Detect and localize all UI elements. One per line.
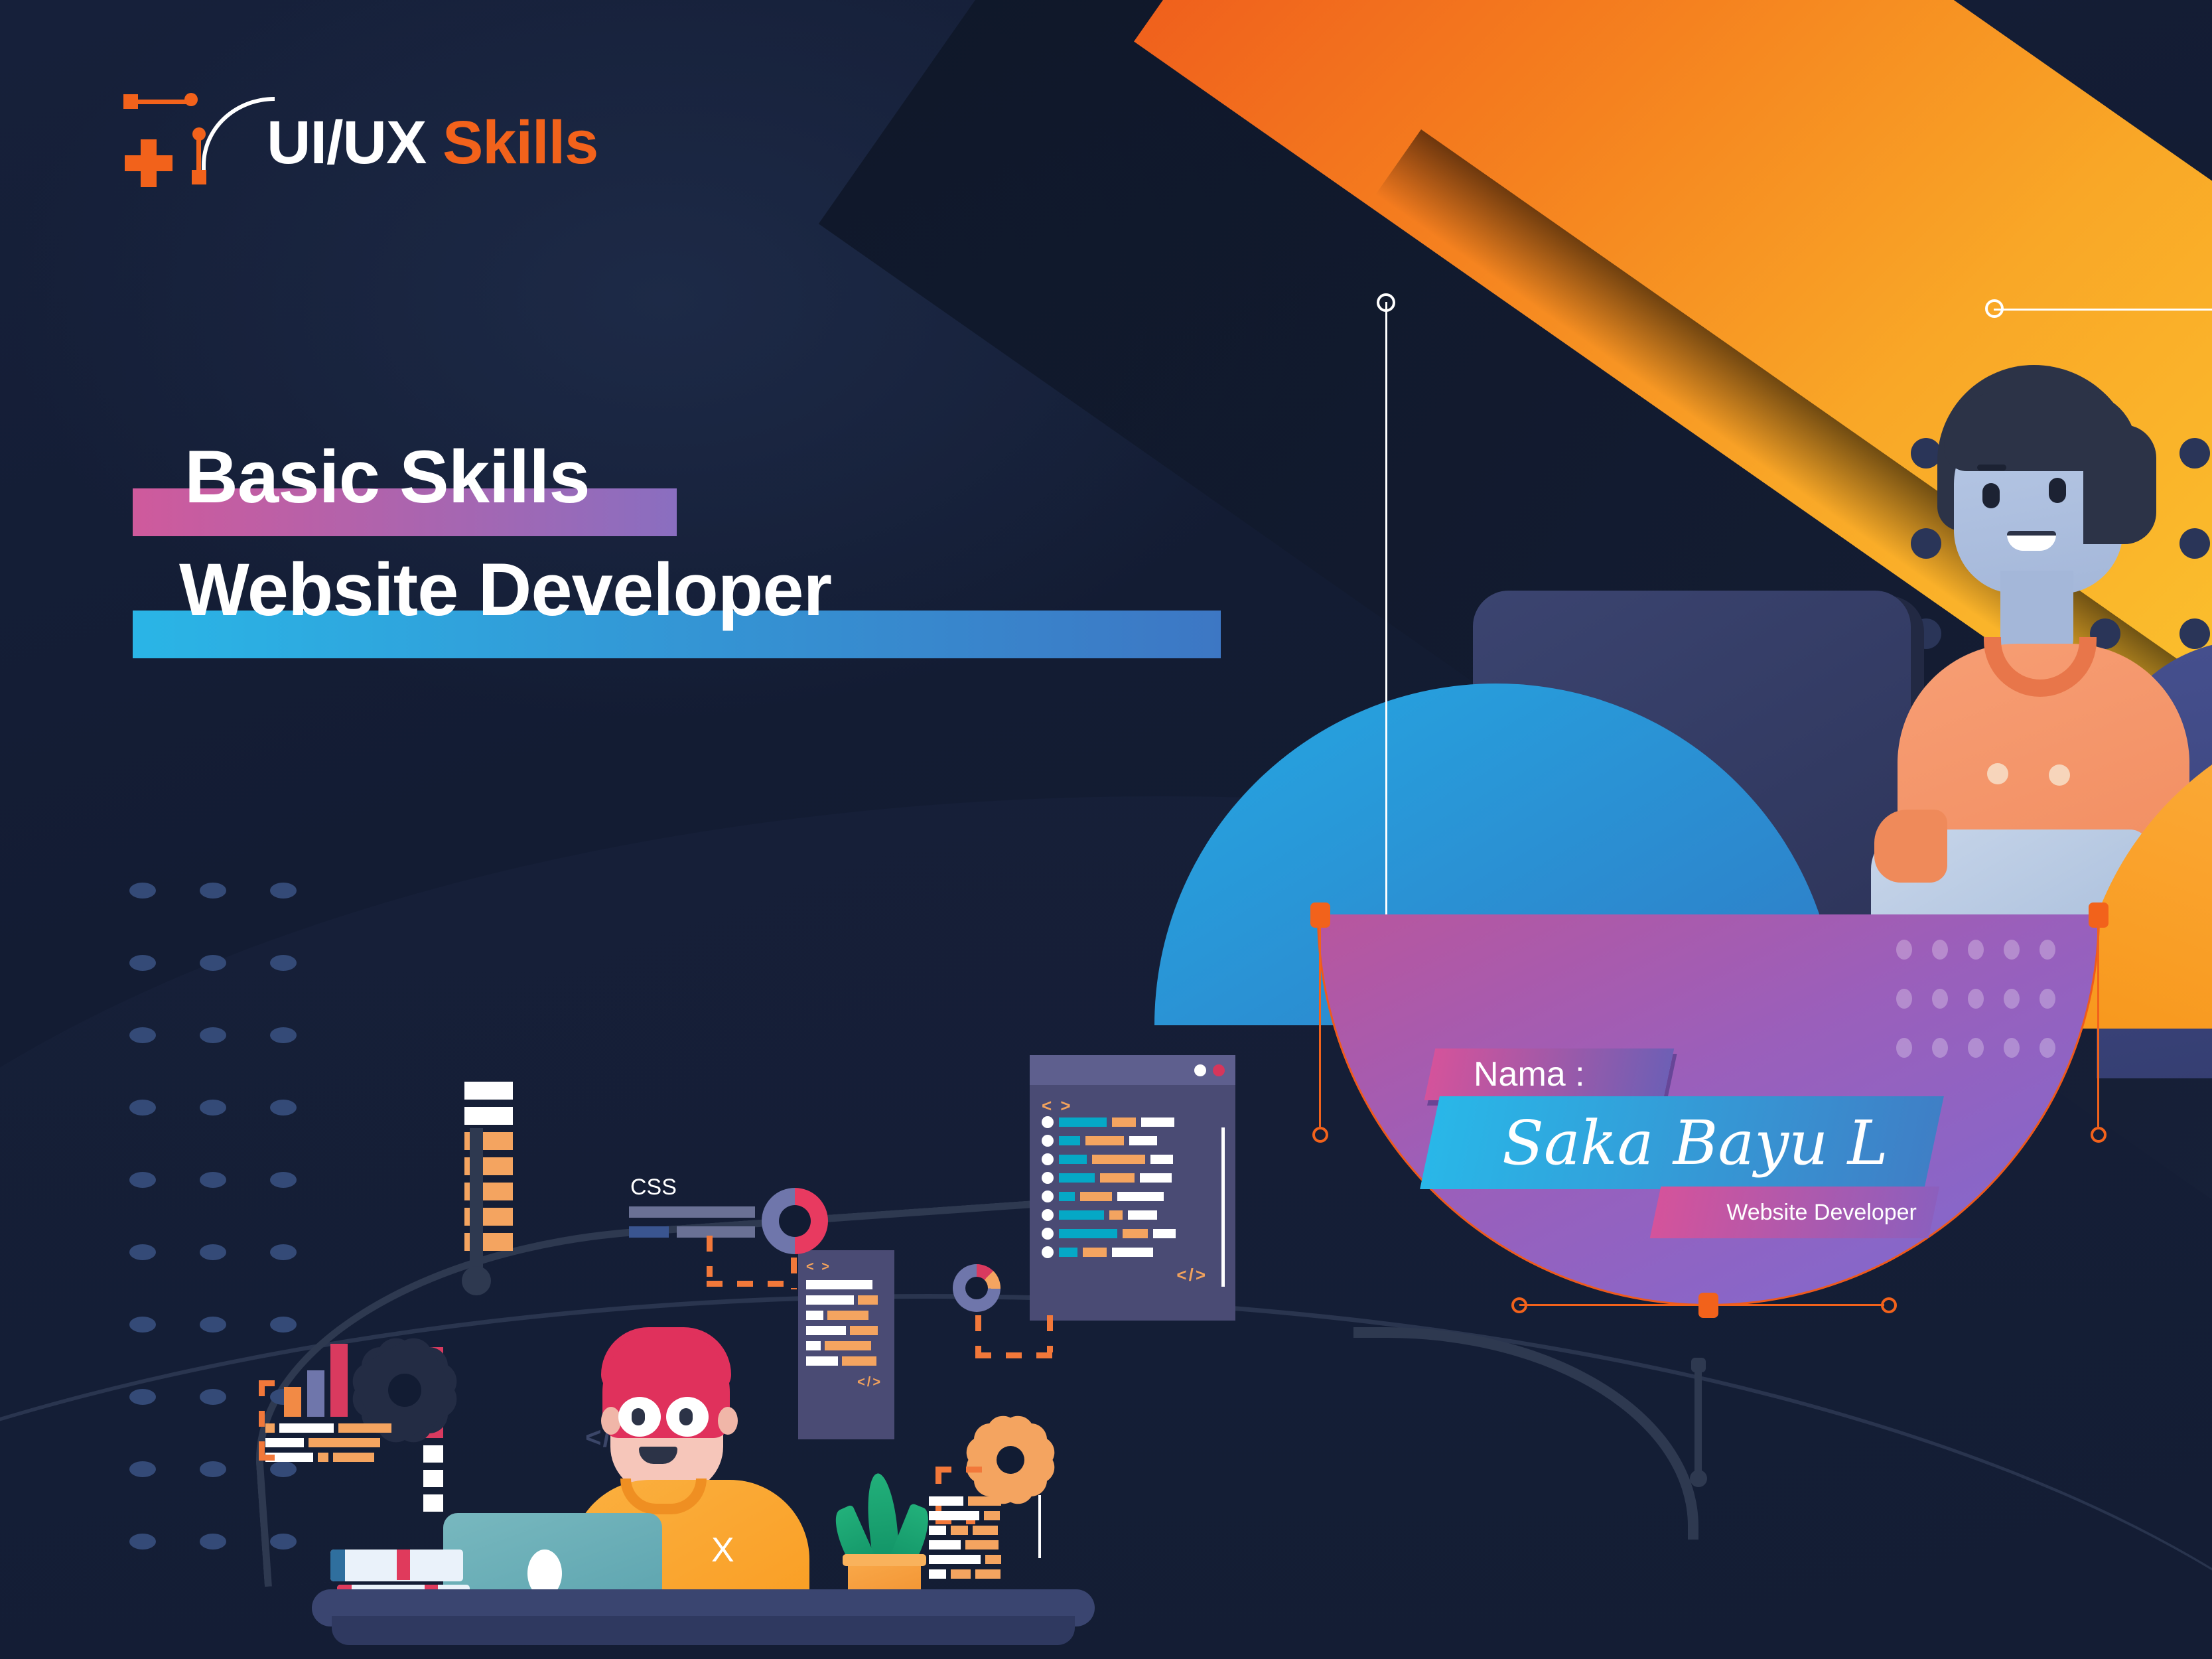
role-bar: Website Developer — [1650, 1187, 1940, 1238]
window-dot-white[interactable] — [1194, 1064, 1206, 1076]
code-area: < > </> — [1030, 1085, 1235, 1292]
headline-line-2: Website Developer — [133, 551, 831, 629]
anchor-handle-line — [1319, 928, 1321, 1127]
anchor-handle-circle[interactable] — [1312, 1127, 1328, 1143]
code-tag-close: </> — [806, 1375, 886, 1390]
pen-handle-circle[interactable] — [1690, 1470, 1707, 1487]
brand-name: UI/UX Skills — [267, 108, 598, 178]
mini-bar-chart — [284, 1344, 348, 1417]
brand-logo[interactable]: UI/UX Skills — [119, 93, 598, 192]
code-tag-close: </> — [1042, 1265, 1222, 1285]
gear-icon — [974, 1423, 1047, 1496]
poster-canvas: UI/UX Skills Basic Skills Website Develo… — [0, 0, 2212, 1659]
plus-icon — [125, 139, 173, 187]
role-value: Website Developer — [1655, 1200, 1934, 1226]
anchor-point[interactable] — [1310, 902, 1330, 928]
code-lines-left — [265, 1423, 391, 1467]
pen-handle-line — [1694, 1367, 1702, 1477]
headline-row-2: Website Developer — [133, 551, 831, 664]
code-lines-right — [929, 1496, 1001, 1584]
dot-grid-left — [129, 883, 340, 1606]
anchor-handle-circle[interactable] — [1881, 1297, 1897, 1313]
shirt-logo-letter: X — [711, 1530, 734, 1570]
code-snippet-panel[interactable]: < > </> — [798, 1250, 894, 1439]
anchor-handle-circle[interactable] — [2091, 1127, 2107, 1143]
pen-handle-square[interactable] — [1691, 1358, 1706, 1372]
code-editor-window[interactable]: < > </> — [1030, 1055, 1235, 1321]
anchor-handle-line — [1519, 1304, 1884, 1306]
measure-handle-circle[interactable] — [1377, 293, 1395, 312]
name-card: Nama : Saka Bayu L Website Developer — [1430, 1048, 1934, 1267]
donut-chart-small — [953, 1264, 1001, 1312]
bezier-pen-tool-icon — [119, 93, 226, 192]
name-value-bar: Saka Bayu L — [1420, 1096, 1944, 1189]
name-label-bar: Nama : — [1424, 1048, 1675, 1100]
pin-handle[interactable] — [462, 1266, 491, 1295]
gear-icon — [362, 1347, 448, 1433]
window-title-bar — [1030, 1055, 1235, 1085]
measure-line-horizontal — [1994, 309, 2212, 311]
anchor-handle-line — [2097, 928, 2099, 1127]
name-value: Saka Bayu L — [1430, 1108, 1934, 1179]
css-label: CSS — [630, 1175, 677, 1200]
anchor-point[interactable] — [2089, 902, 2108, 928]
headline-row-1: Basic Skills — [133, 438, 831, 551]
code-tag-open: < > — [806, 1260, 886, 1275]
headline-block: Basic Skills Website Developer — [133, 438, 831, 664]
anchor-handle-circle[interactable] — [1511, 1297, 1527, 1313]
name-label: Nama : — [1430, 1054, 1585, 1094]
donut-chart-css — [762, 1188, 828, 1254]
measure-handle-circle[interactable] — [1985, 299, 2004, 318]
brand-name-accent: Skills — [443, 109, 598, 177]
brand-name-main: UI/UX — [267, 109, 426, 177]
headline-line-1: Basic Skills — [133, 438, 831, 516]
window-dot-red[interactable] — [1213, 1064, 1225, 1076]
code-tag-open: < > — [1042, 1096, 1222, 1116]
